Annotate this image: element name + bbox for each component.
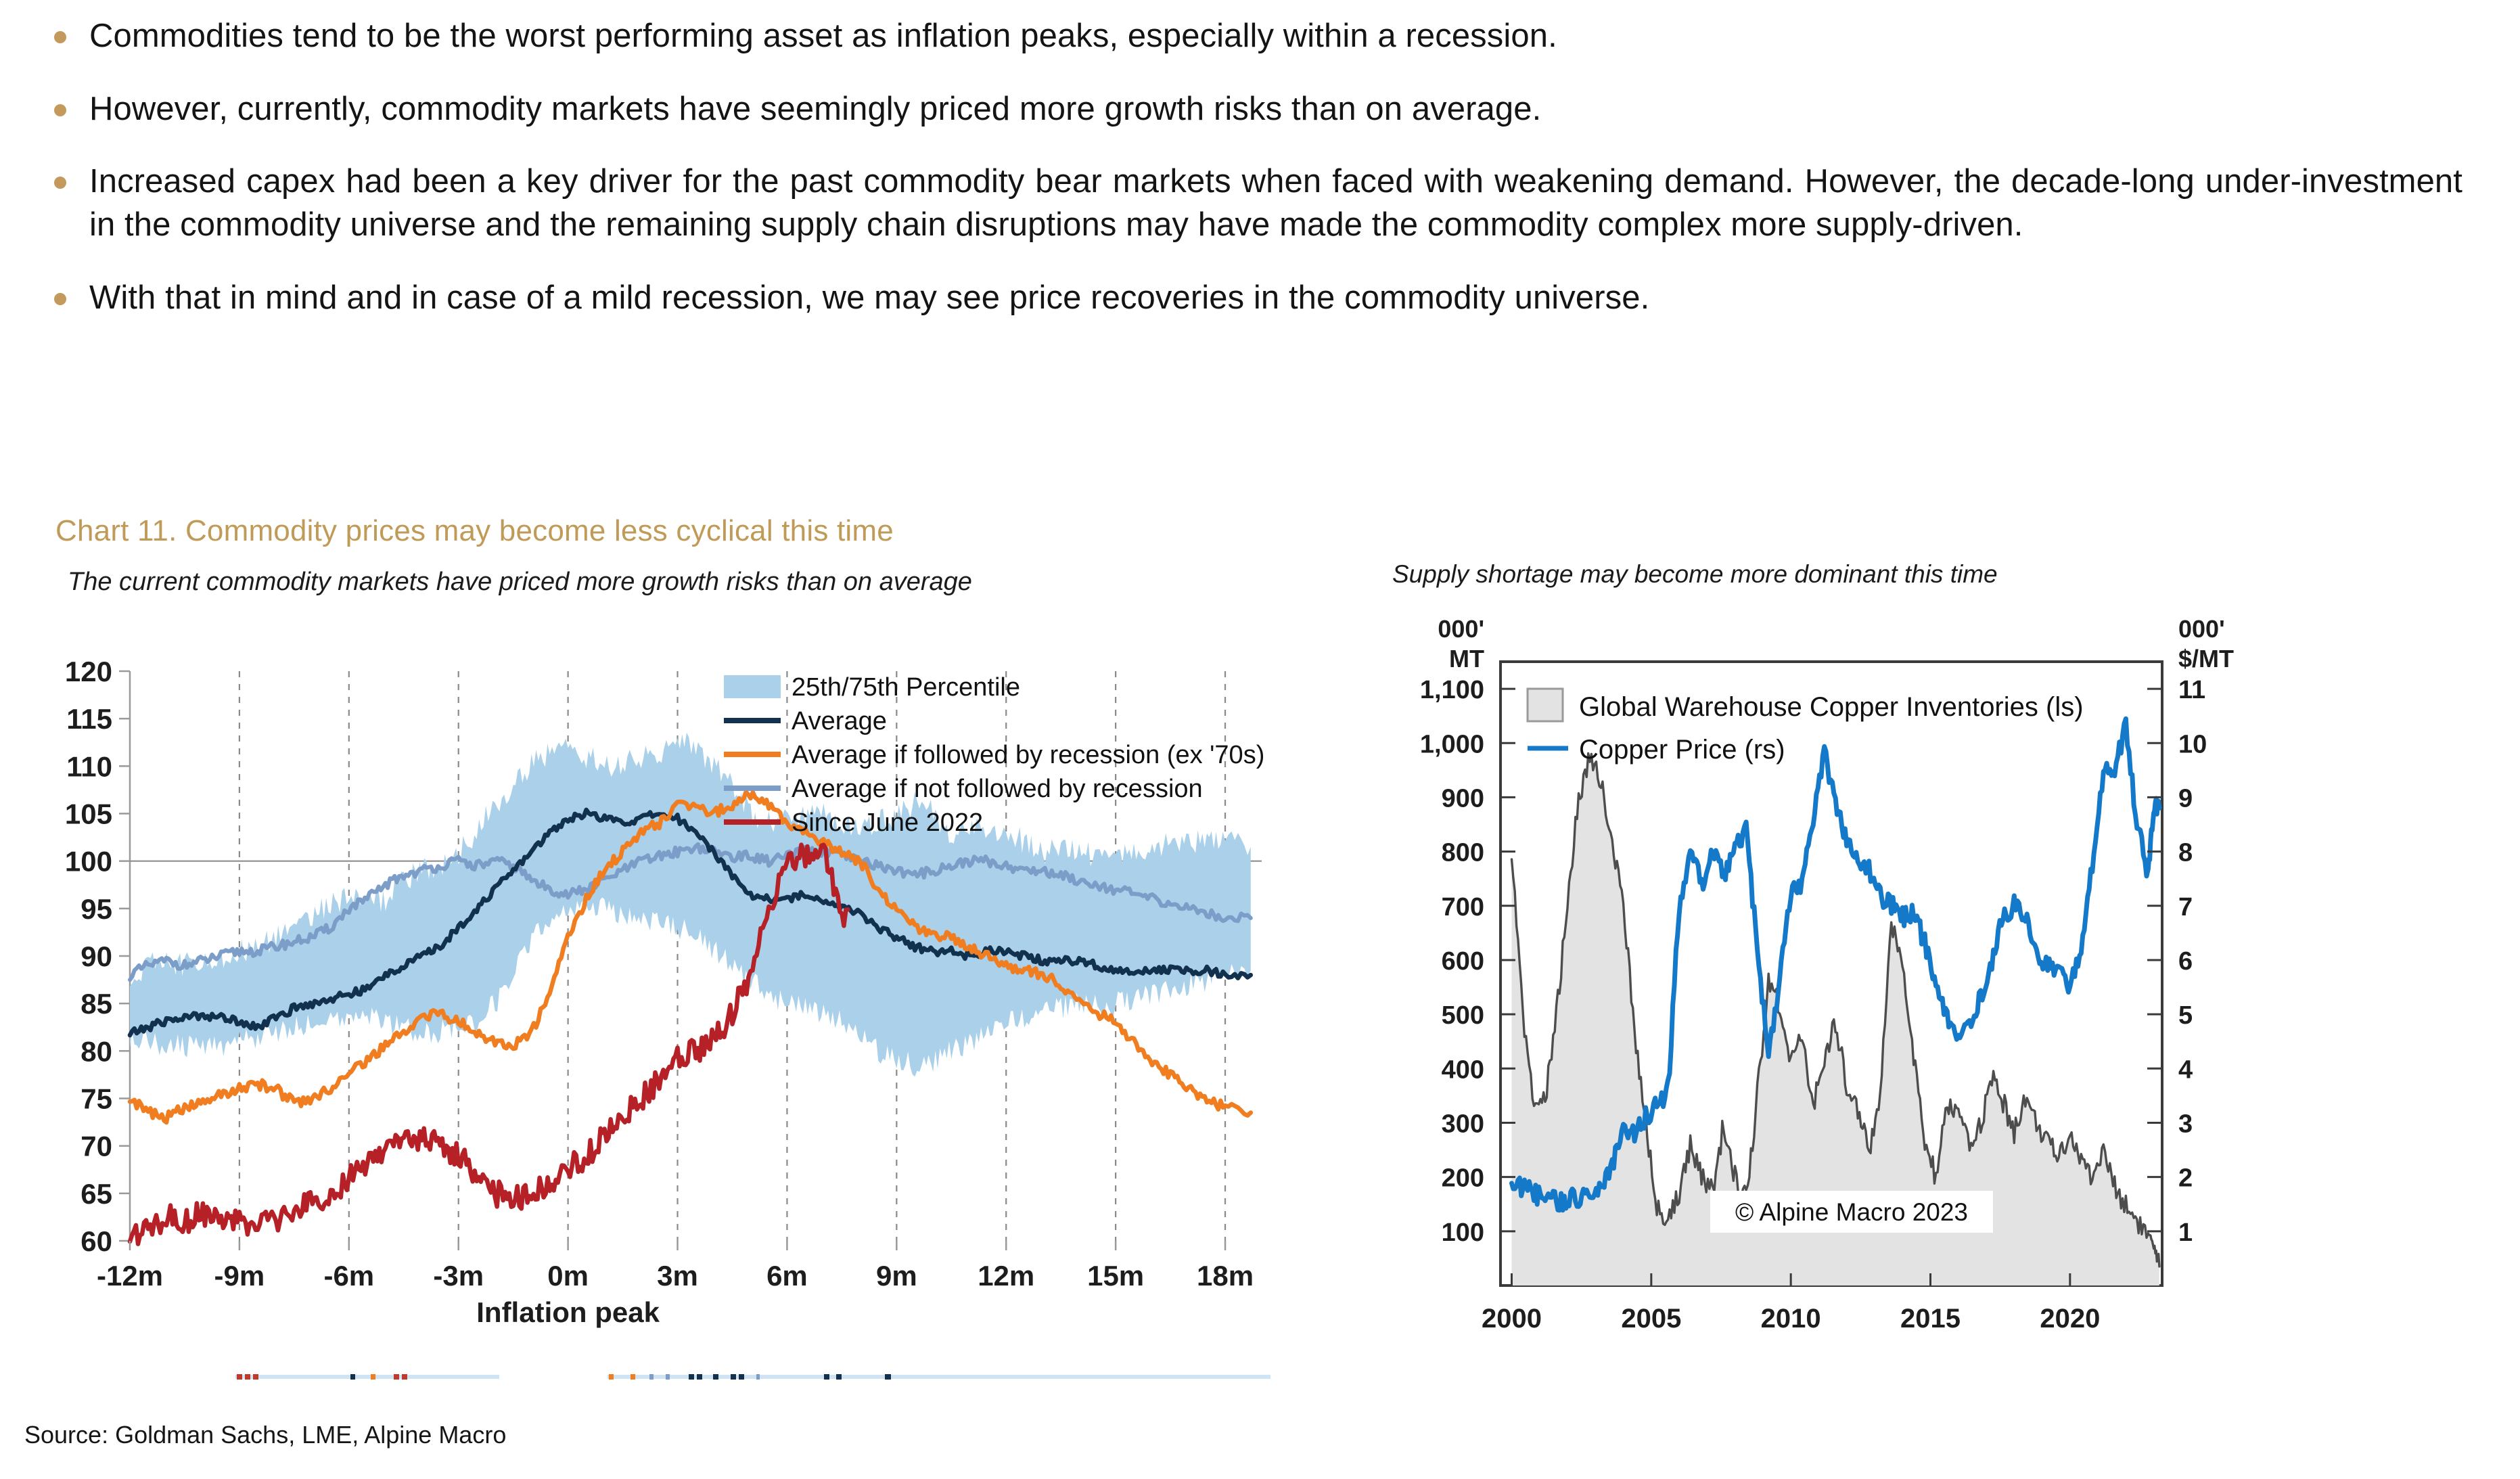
watermark-text: © Alpine Macro 2023	[1735, 1198, 1968, 1226]
x-tick-label: -3m	[433, 1260, 484, 1292]
right-y-tick-label: 4	[2178, 1055, 2193, 1084]
right-axis-unit-line2: $/MT	[2178, 645, 2234, 673]
x-tick-label: 6m	[766, 1260, 808, 1292]
source-note: Source: Goldman Sachs, LME, Alpine Macro	[24, 1421, 506, 1449]
legend-label: Copper Price (rs)	[1579, 735, 1785, 765]
left-y-tick-label: 900	[1442, 784, 1484, 813]
right-chart: 000'MT000'$/MT10020030040050060070080090…	[1387, 602, 2375, 1367]
x-tick-label: 12m	[978, 1260, 1034, 1292]
y-tick-label: 85	[81, 988, 112, 1020]
y-tick-label: 80	[81, 1035, 112, 1067]
x-tick-label: 2020	[2040, 1304, 2100, 1334]
left-y-tick-label: 500	[1442, 1001, 1484, 1030]
y-tick-label: 70	[81, 1131, 112, 1162]
legend-label: Average if not followed by recession	[792, 775, 1203, 803]
left-axis-unit-line2: MT	[1449, 645, 1484, 673]
legend-label: Average if followed by recession (ex '70…	[792, 741, 1264, 769]
left-y-tick-label: 700	[1442, 893, 1484, 921]
right-y-tick-label: 7	[2178, 893, 2193, 921]
y-tick-label: 65	[81, 1178, 112, 1210]
bullet-item: Commodities tend to be the worst perform…	[54, 15, 2462, 58]
y-tick-label: 120	[65, 656, 112, 687]
y-tick-label: 100	[65, 846, 112, 878]
x-tick-label: 2010	[1761, 1304, 1821, 1334]
left-y-tick-label: 300	[1442, 1110, 1484, 1138]
left-y-tick-label: 400	[1442, 1055, 1484, 1084]
left-y-tick-label: 200	[1442, 1164, 1484, 1193]
x-tick-label: 2015	[1900, 1304, 1961, 1334]
x-tick-label: 0m	[547, 1260, 589, 1292]
bullet-text: With that in mind and in case of a mild …	[89, 277, 2462, 320]
x-tick-label: 3m	[657, 1260, 698, 1292]
bullet-marker-icon	[54, 293, 66, 305]
x-axis-label: Inflation peak	[476, 1296, 660, 1328]
y-tick-label: 90	[81, 940, 112, 972]
x-tick-label: 18m	[1197, 1260, 1254, 1292]
bullet-list: Commodities tend to be the worst perform…	[54, 15, 2462, 349]
left-y-tick-label: 1,100	[1420, 676, 1484, 704]
right-chart-svg: 000'MT000'$/MT10020030040050060070080090…	[1387, 602, 2375, 1367]
x-tick-label: 2005	[1621, 1304, 1681, 1334]
x-tick-label: 2000	[1482, 1304, 1542, 1334]
chart-block-title: Chart 11. Commodity prices may become le…	[55, 514, 894, 548]
bullet-marker-icon	[54, 31, 66, 43]
bullet-text: Commodities tend to be the worst perform…	[89, 15, 2462, 58]
right-y-tick-label: 5	[2178, 1001, 2193, 1030]
y-tick-label: 115	[66, 703, 112, 735]
x-tick-label: 15m	[1087, 1260, 1144, 1292]
bullet-text: Increased capex had been a key driver fo…	[89, 160, 2462, 246]
right-y-tick-label: 3	[2178, 1110, 2193, 1138]
right-axis-unit-line1: 000'	[2178, 615, 2225, 643]
legend-label: Average	[792, 707, 887, 735]
left-chart: 6065707580859095100105110115120-12m-9m-6…	[41, 644, 1279, 1327]
left-chart-svg: 6065707580859095100105110115120-12m-9m-6…	[41, 644, 1279, 1327]
left-chart-subtitle: The current commodity markets have price…	[68, 567, 1279, 597]
bullet-marker-icon	[54, 177, 66, 189]
left-y-tick-label: 1,000	[1420, 730, 1484, 758]
right-chart-subtitle: Supply shortage may become more dominant…	[1392, 560, 2380, 589]
right-y-tick-label: 11	[2178, 676, 2205, 704]
y-tick-label: 60	[81, 1225, 112, 1257]
x-tick-label: -6m	[323, 1260, 374, 1292]
right-y-tick-label: 10	[2178, 730, 2207, 758]
right-y-tick-label: 1	[2178, 1219, 2193, 1247]
bullet-item: However, currently, commodity markets ha…	[54, 88, 2462, 131]
y-tick-label: 105	[65, 798, 112, 830]
bullet-item: With that in mind and in case of a mild …	[54, 277, 2462, 320]
legend-label: Since June 2022	[792, 809, 983, 837]
left-y-tick-label: 100	[1442, 1219, 1484, 1247]
legend-swatch-band	[724, 675, 781, 698]
legend-swatch-area	[1528, 689, 1563, 721]
left-y-tick-label: 600	[1442, 947, 1484, 976]
right-y-tick-label: 9	[2178, 784, 2193, 813]
bullet-item: Increased capex had been a key driver fo…	[54, 160, 2462, 246]
y-tick-label: 95	[81, 893, 112, 925]
right-y-tick-label: 2	[2178, 1164, 2193, 1193]
right-y-tick-label: 8	[2178, 839, 2193, 867]
left-y-tick-label: 800	[1442, 839, 1484, 867]
left-axis-unit-line1: 000'	[1438, 615, 1484, 643]
x-tick-label: -12m	[97, 1260, 163, 1292]
y-tick-label: 75	[81, 1083, 112, 1115]
legend-label: 25th/75th Percentile	[792, 673, 1020, 702]
slide-scroll-strip	[147, 1373, 1270, 1380]
x-tick-label: -9m	[214, 1260, 265, 1292]
bullet-marker-icon	[54, 104, 66, 116]
legend-label: Global Warehouse Copper Inventories (ls)	[1579, 692, 2084, 722]
right-y-tick-label: 6	[2178, 947, 2193, 976]
x-tick-label: 9m	[876, 1260, 917, 1292]
bullet-text: However, currently, commodity markets ha…	[89, 88, 2462, 131]
y-tick-label: 110	[66, 750, 112, 782]
